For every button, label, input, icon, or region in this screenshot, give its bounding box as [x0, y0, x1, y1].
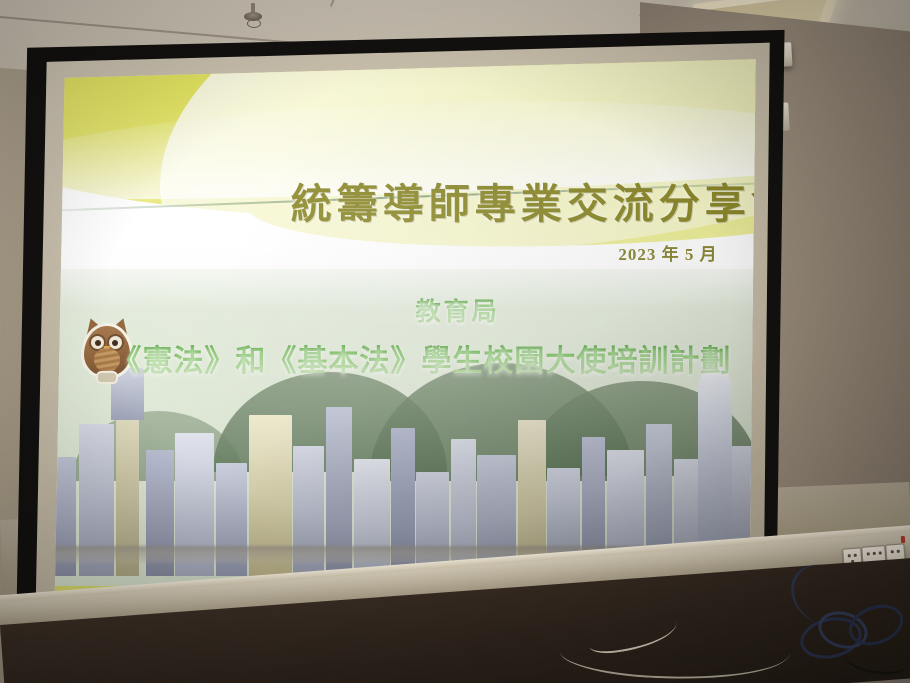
- slide-programme-title: 《憲法》和《基本法》學生校園大使培訓計劃: [111, 336, 731, 380]
- slide-title: 統籌導師專業交流分享會: [291, 170, 790, 230]
- slide-date: 2023 年 5 月: [618, 240, 717, 265]
- room-scene: 統籌導師專業交流分享會 2023 年 5 月 教育局 《憲法》和《基本法》學生校…: [0, 0, 910, 683]
- ceiling-sprinkler-icon: [240, 3, 266, 27]
- slide-organisation: 教育局: [416, 292, 500, 328]
- socket-indicator-light: [901, 536, 906, 543]
